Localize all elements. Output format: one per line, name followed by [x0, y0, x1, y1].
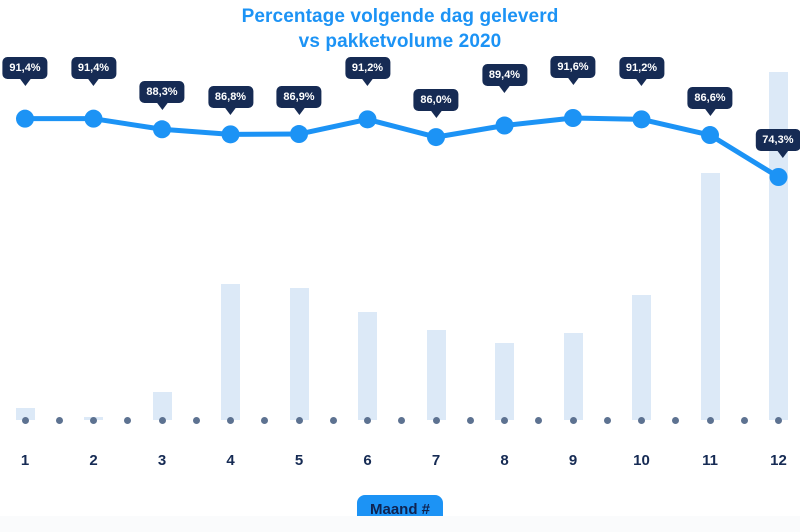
data-point-marker[interactable]: [701, 126, 719, 144]
x-axis-tick-label: 1: [21, 452, 29, 470]
trend-line: [25, 118, 779, 177]
chart-container: Percentage volgende dag geleverd vs pakk…: [0, 0, 800, 532]
data-label: 91,6%: [550, 56, 595, 78]
x-axis-tick-label: 11: [702, 452, 718, 470]
plot-area: 91,4%91,4%88,3%86,8%86,9%91,2%86,0%89,4%…: [0, 0, 800, 440]
footer-strip: [0, 516, 800, 532]
data-label: 91,4%: [71, 57, 116, 79]
data-label: 86,9%: [276, 86, 321, 108]
data-label: 86,0%: [413, 89, 458, 111]
data-point-marker[interactable]: [222, 125, 240, 143]
x-axis-tick-label: 8: [500, 452, 508, 470]
data-point-marker[interactable]: [153, 120, 171, 138]
data-point-marker[interactable]: [85, 110, 103, 128]
data-point-marker[interactable]: [770, 168, 788, 186]
x-axis-tick-label: 5: [295, 452, 303, 470]
data-point-marker[interactable]: [496, 117, 514, 135]
data-label: 91,2%: [619, 57, 664, 79]
data-label: 91,2%: [345, 57, 390, 79]
data-point-marker[interactable]: [427, 128, 445, 146]
x-axis-tick-label: 3: [158, 452, 166, 470]
line-series-layer: [0, 0, 800, 440]
x-axis-tick-label: 6: [363, 452, 371, 470]
x-axis-tick-label: 9: [569, 452, 577, 470]
x-axis-tick-label: 7: [432, 452, 440, 470]
data-label: 88,3%: [139, 81, 184, 103]
x-axis-tick-label: 10: [633, 452, 650, 470]
data-point-marker[interactable]: [633, 110, 651, 128]
x-axis-tick-label: 2: [89, 452, 97, 470]
data-point-marker[interactable]: [290, 125, 308, 143]
data-label: 86,6%: [687, 87, 732, 109]
data-point-marker[interactable]: [16, 110, 34, 128]
data-point-marker[interactable]: [564, 109, 582, 127]
x-axis-tick-label: 4: [226, 452, 234, 470]
x-axis-tick-label: 12: [770, 452, 787, 470]
data-label: 86,8%: [208, 86, 253, 108]
data-point-marker[interactable]: [359, 110, 377, 128]
data-label: 74,3%: [755, 129, 800, 151]
data-label: 89,4%: [482, 64, 527, 86]
data-label: 91,4%: [2, 57, 47, 79]
